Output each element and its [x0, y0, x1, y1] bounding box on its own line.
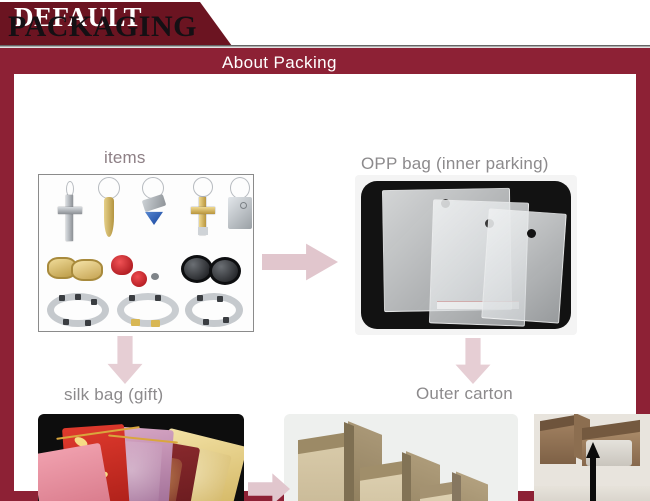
jewelry-items-photo — [38, 174, 254, 332]
content-frame: About Packing items OPP bag (inner parki… — [0, 48, 650, 501]
caption-items: items — [104, 148, 146, 168]
opp-black-backdrop — [361, 181, 571, 329]
arrow-items-to-silk — [106, 336, 144, 384]
arrow-items-to-opp — [262, 242, 338, 282]
header-band: DEFAULT PACKAGING — [0, 0, 650, 48]
about-packing-banner-label: About Packing — [222, 53, 337, 73]
packaging-infographic-page: DEFAULT PACKAGING About Packing items OP… — [0, 0, 650, 501]
opp-bag-photo — [355, 175, 577, 335]
title-packaging-text: PACKAGING — [8, 12, 197, 42]
outer-carton-photo — [284, 414, 518, 501]
content-canvas: items OPP bag (inner parking) silk bag (… — [14, 74, 636, 491]
arrow-opp-to-carton — [454, 338, 492, 384]
arrow-foam-thickness — [586, 442, 600, 501]
caption-outer-carton: Outer carton — [416, 384, 513, 404]
carton-foam-padding-photo — [534, 414, 650, 501]
silk-gift-bag-photo — [38, 414, 244, 501]
caption-opp-bag: OPP bag (inner parking) — [361, 154, 549, 174]
caption-silk-bag: silk bag (gift) — [64, 385, 163, 405]
